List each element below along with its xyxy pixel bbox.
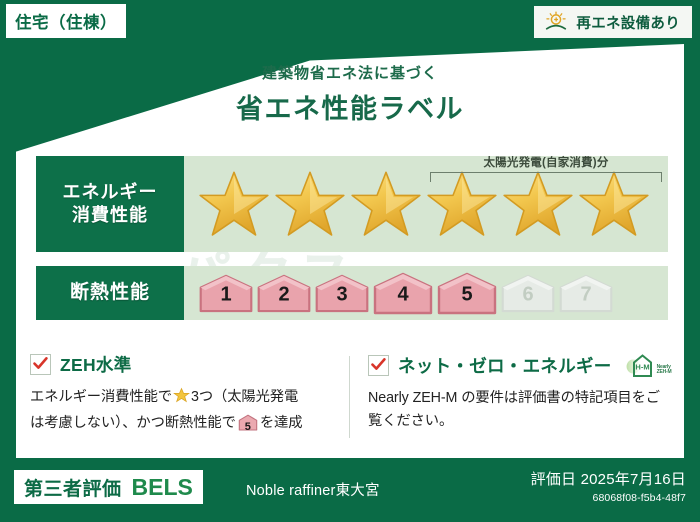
footer-bar: 第三者評価 BELS Noble raffiner東大宮 評価日 2025年7月…	[0, 460, 700, 522]
star-icon	[578, 169, 650, 239]
net-zero-title: ネット・ゼロ・エネルギー	[398, 353, 612, 378]
insulation-performance-body: 1234567	[184, 266, 668, 320]
insulation-level-5: 5	[436, 271, 498, 315]
title-subtitle: 建築物省エネ法に基づく	[0, 62, 700, 83]
zeh-desc-part3: は考慮しない）、かつ断熱性能で	[30, 415, 236, 431]
energy-label-line1: エネルギー	[63, 181, 158, 204]
star-icon	[350, 169, 422, 239]
energy-performance-row: エネルギー 消費性能 太陽光発電(自家消費)分	[36, 156, 668, 252]
svg-text:H-M: H-M	[635, 363, 649, 372]
insulation-level-number: 7	[558, 283, 614, 306]
building-name: Noble raffiner東大宮	[246, 479, 380, 500]
energy-performance-label: エネルギー 消費性能	[36, 156, 184, 252]
evaluation-id: 68068f08-f5b4-48f7	[531, 492, 686, 504]
renewable-badge-label: 再エネ設備あり	[576, 12, 680, 33]
third-party-label: 第三者評価	[24, 474, 122, 501]
nearly-zehm-logo: H-M Nearly ZEH-M	[625, 352, 672, 378]
insulation-level-number: 3	[314, 283, 370, 306]
bels-certification-box: 第三者評価 BELS	[14, 470, 203, 504]
star-icon	[426, 169, 498, 239]
criteria-section: ZEH水準 エネルギー消費性能で3つ（太陽光発電は考慮しない）、かつ断熱性能で5…	[30, 352, 674, 439]
net-zero-heading: ネット・ゼロ・エネルギー H-M Nearly	[368, 352, 674, 378]
energy-performance-body: 太陽光発電(自家消費)分	[184, 156, 668, 252]
star-rating	[184, 156, 668, 252]
evaluation-info: 評価日 2025年7月16日 68068f08-f5b4-48f7	[531, 468, 686, 504]
energy-label-line2: 消費性能	[72, 204, 148, 227]
evaluation-date: 評価日 2025年7月16日	[531, 468, 686, 489]
insulation-level-number: 1	[198, 283, 254, 306]
insulation-level-6: 6	[500, 273, 556, 313]
zeh-desc-part1: エネルギー消費性能で	[30, 389, 172, 405]
insulation-level-7: 7	[558, 273, 614, 313]
checkmark-icon	[30, 354, 51, 375]
category-tag: 住宅（住棟）	[6, 4, 126, 38]
insulation-level-number: 2	[256, 283, 312, 306]
zeh-desc-part4: を達成	[260, 415, 303, 431]
star-icon	[198, 169, 270, 239]
insulation-level-number: 4	[372, 284, 434, 307]
zeh-desc-part2: 3つ（太陽光発電	[191, 389, 298, 405]
zeh-title: ZEH水準	[60, 352, 132, 377]
insulation-level-3: 3	[314, 273, 370, 313]
zeh-description: エネルギー消費性能で3つ（太陽光発電は考慮しない）、かつ断熱性能で5を達成	[30, 386, 336, 439]
solar-sun-icon	[543, 11, 569, 33]
inline-house-icon: 5	[238, 414, 258, 439]
inline-house-number: 5	[238, 419, 258, 437]
insulation-level-2: 2	[256, 273, 312, 313]
net-zero-description: Nearly ZEH-M の要件は評価書の特記項目をご覧ください。	[368, 387, 674, 433]
insulation-level-number: 6	[500, 283, 556, 306]
insulation-level-number: 5	[436, 284, 498, 307]
nearly-zehm-logo-text: Nearly ZEH-M	[657, 365, 672, 379]
insulation-scale: 1234567	[184, 266, 668, 320]
insulation-label-text: 断熱性能	[70, 281, 150, 305]
insulation-performance-row: 断熱性能 1234567	[36, 266, 668, 320]
insulation-level-4: 4	[372, 271, 434, 315]
zeh-heading: ZEH水準	[30, 352, 336, 377]
renewable-energy-badge: 再エネ設備あり	[534, 6, 692, 38]
title-main: 省エネ性能ラベル	[0, 87, 700, 126]
checkmark-icon	[368, 355, 389, 376]
bels-logo-text: BELS	[132, 474, 193, 501]
insulation-performance-label: 断熱性能	[36, 266, 184, 320]
star-icon	[274, 169, 346, 239]
net-zero-criterion: ネット・ゼロ・エネルギー H-M Nearly	[356, 352, 674, 439]
star-icon	[502, 169, 574, 239]
page-title: 建築物省エネ法に基づく 省エネ性能ラベル	[0, 62, 700, 126]
zeh-criterion: ZEH水準 エネルギー消費性能で3つ（太陽光発電は考慮しない）、かつ断熱性能で5…	[30, 352, 336, 439]
insulation-level-1: 1	[198, 273, 254, 313]
bels-energy-label: 住宅（住棟） 再エネ設備あり 建築物省エネ法に基づく 省エネ性能ラベル パクス …	[0, 0, 700, 522]
inline-star-icon	[173, 392, 190, 408]
logo-small-line2: ZEH-M	[657, 369, 672, 375]
